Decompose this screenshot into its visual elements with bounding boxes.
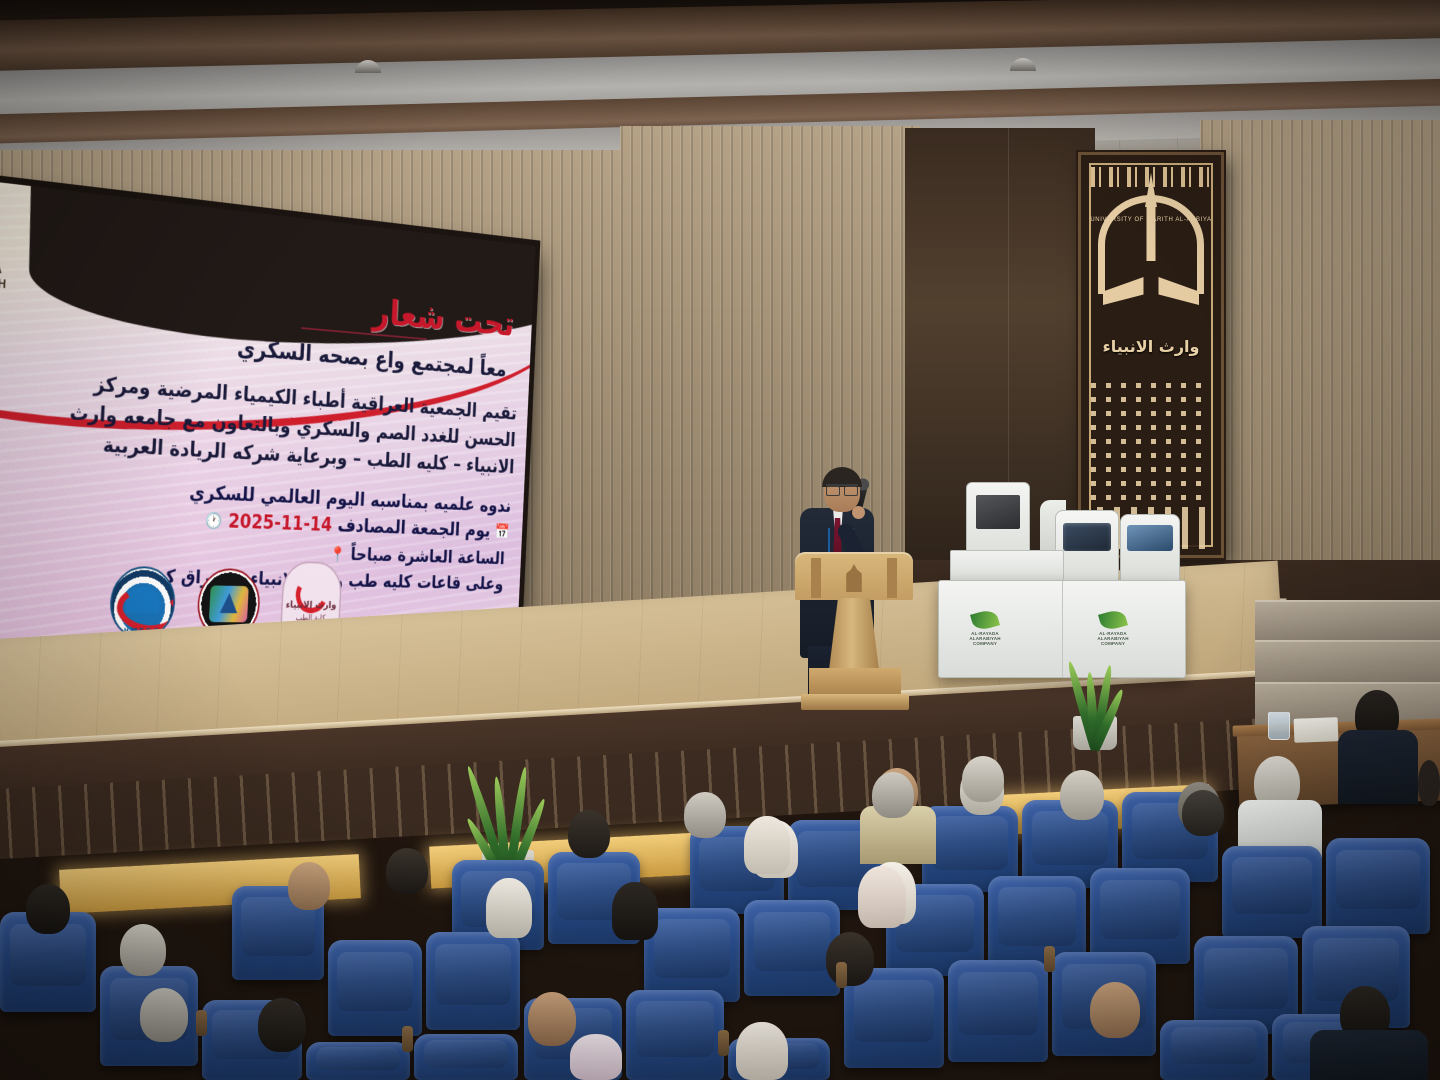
- seat[interactable]: [626, 990, 724, 1080]
- green-leaf-icon: [970, 608, 1000, 632]
- audience-head: [26, 884, 70, 934]
- clock-icon: 🕐: [205, 512, 223, 531]
- audience-hijab: [486, 878, 532, 938]
- audience-head: [826, 932, 874, 986]
- analyzer-screen-dark-grey: [976, 495, 1020, 529]
- red-crescent-icon: [292, 571, 331, 618]
- audience-head: [568, 810, 610, 858]
- cabinet-brand-logo-left: AL-RAYADA ALARABIYAH COMPANY: [959, 611, 1011, 646]
- seat[interactable]: [426, 932, 520, 1030]
- lab-flask-icon: [220, 592, 238, 612]
- audience-head: [288, 862, 330, 910]
- audience-hijab: [744, 816, 790, 874]
- seat[interactable]: [948, 960, 1048, 1062]
- audience-hijab: [570, 1034, 622, 1080]
- slide-time-and-place: الساعة العاشرة صباحاً 📍: [329, 543, 505, 569]
- audience-head: [528, 992, 576, 1046]
- seat-armrest: [836, 962, 847, 988]
- slide-corporate-logo: AL-RAYADA ALARABIYAH COMPANY Growing our…: [0, 180, 52, 315]
- audience-head-grey: [120, 924, 166, 976]
- slide-background: AL-RAYADA ALARABIYAH COMPANY Growing our…: [0, 166, 535, 656]
- analyzer-screen-light-blue: [1127, 525, 1173, 551]
- seat[interactable]: [306, 1042, 410, 1080]
- hematology-analyzer: [966, 482, 1030, 558]
- slide-date-value: 14-11-2025: [228, 510, 333, 535]
- map-pin-icon: 📍: [329, 546, 346, 564]
- seat[interactable]: [1222, 846, 1322, 938]
- audience-body: [1338, 730, 1418, 804]
- seat[interactable]: [644, 908, 740, 1002]
- seat[interactable]: [744, 900, 840, 996]
- chemistry-analyzer: [1055, 510, 1119, 586]
- audience-head: [258, 998, 306, 1052]
- slide-time-line: الساعة العاشرة صباحاً: [350, 543, 505, 568]
- audience-head: [1090, 982, 1140, 1038]
- audience-hijab: [736, 1022, 788, 1080]
- cabinet-brand-text-left: AL-RAYADA ALARABIYAH COMPANY: [959, 631, 1011, 646]
- university-logo-arabic-1: وارث الانبياء: [283, 599, 340, 611]
- seat-armrest: [718, 1030, 729, 1056]
- stair-step: [1255, 600, 1440, 642]
- presentation-screen[interactable]: AL-RAYADA ALARABIYAH COMPANY Growing our…: [0, 166, 535, 656]
- company-name-line1: AL-RAYADA ALARABIYAH: [0, 249, 49, 295]
- podium-foot: [801, 694, 909, 710]
- water-glass: [1268, 712, 1290, 740]
- potted-plant-stage: [1040, 640, 1150, 750]
- audience-head: [386, 848, 428, 894]
- seat[interactable]: [328, 940, 422, 1036]
- audience-head-grey: [962, 756, 1004, 802]
- audience-body: [1310, 1030, 1428, 1080]
- speaker-eyeglasses-icon: [826, 484, 858, 494]
- audience-head-grey: [684, 792, 726, 838]
- immunoassay-analyzer: [1120, 514, 1180, 586]
- seat[interactable]: [1090, 868, 1190, 964]
- art-kufic-calligraphy: [1091, 380, 1211, 500]
- audience-hijab: [858, 866, 906, 928]
- stair-step: [1255, 640, 1440, 684]
- tissue-box: [1294, 717, 1339, 743]
- seat[interactable]: [414, 1034, 518, 1080]
- audience-head: [1418, 760, 1440, 806]
- audience-head-grey: [872, 772, 914, 818]
- seat-armrest: [402, 1026, 413, 1052]
- green-leaf-icon: [1098, 608, 1128, 632]
- wall-art-arabic-text: وارث الانبياء: [1081, 337, 1221, 356]
- calendar-icon: 📅: [495, 523, 510, 540]
- audience-head-grey: [140, 988, 188, 1042]
- analyzer-screen-dark-blue: [1063, 523, 1111, 551]
- auditorium-photo: UNIVERSITY OF WARITH AL-ANBIYA وارث الان…: [0, 0, 1440, 1080]
- podium-desk-top: [795, 552, 913, 600]
- audience-hijab: [612, 882, 658, 940]
- seat-armrest: [196, 1010, 207, 1036]
- audience-head: [1182, 790, 1224, 836]
- seat[interactable]: [1326, 838, 1430, 934]
- seat-armrest: [1044, 946, 1055, 972]
- university-wall-art-panel: UNIVERSITY OF WARITH AL-ANBIYA وارث الان…: [1078, 152, 1224, 558]
- audience-head-grey: [1060, 770, 1104, 820]
- seat[interactable]: [1160, 1020, 1268, 1080]
- podium: [795, 552, 913, 722]
- podium-crest-icon: [841, 564, 867, 592]
- wall-art-english-text: UNIVERSITY OF WARITH AL-ANBIYA: [1081, 217, 1221, 223]
- podium-column: [829, 598, 879, 670]
